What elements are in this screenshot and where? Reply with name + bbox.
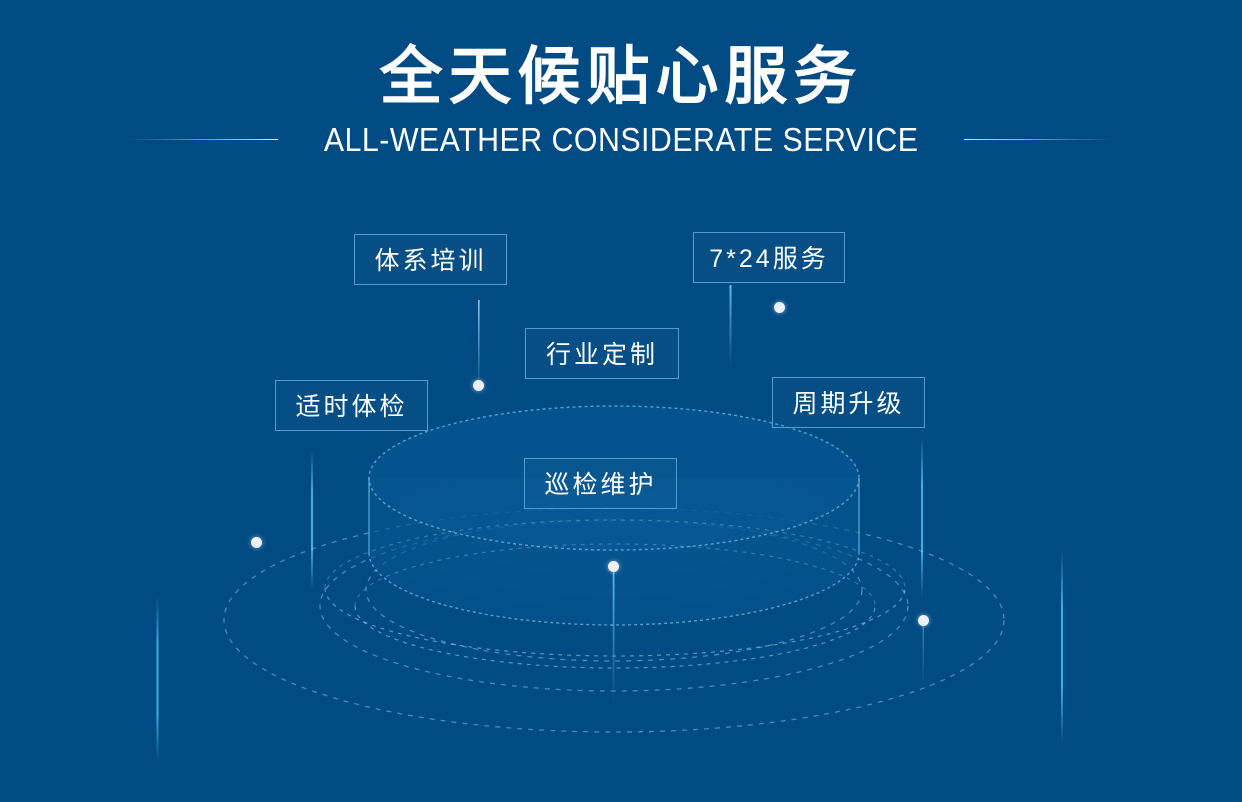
- decor-line-left: [157, 596, 159, 762]
- label-chip-724-service[interactable]: 7*24服务: [693, 232, 845, 283]
- page-subtitle: ALL-WEATHER CONSIDERATE SERVICE: [324, 123, 919, 156]
- label-chip-timely-checkup[interactable]: 适时体检: [275, 380, 428, 431]
- label-chip-timely-checkup-text: 适时体检: [295, 387, 407, 423]
- label-chip-patrol-maintenance-text: 巡检维护: [544, 465, 656, 501]
- subtitle-row: ALL-WEATHER CONSIDERATE SERVICE: [0, 123, 1242, 156]
- label-chip-periodic-upgrade[interactable]: 周期升级: [772, 377, 925, 428]
- label-chip-patrol-maintenance[interactable]: 巡检维护: [524, 458, 677, 509]
- node-dot-left: [251, 537, 262, 548]
- connector-train: [478, 300, 480, 392]
- decor-line-inner-right: [921, 437, 923, 597]
- label-chip-system-training-text: 体系培训: [374, 241, 486, 277]
- service-banner: 全天候贴心服务 ALL-WEATHER CONSIDERATE SERVICE …: [0, 0, 1242, 802]
- node-dot-center: [608, 561, 619, 572]
- node-dot-training: [473, 380, 484, 391]
- connector-center: [613, 567, 615, 703]
- connector-724: [730, 285, 732, 365]
- subtitle-rule-right: [964, 139, 1114, 140]
- connector-right-node: [923, 624, 924, 684]
- label-chip-system-training[interactable]: 体系培训: [354, 234, 507, 285]
- decor-line-right: [1061, 551, 1063, 743]
- node-dot-right: [918, 615, 929, 626]
- label-chip-industry-customization-text: 行业定制: [546, 335, 658, 371]
- label-chip-industry-customization[interactable]: 行业定制: [525, 328, 679, 379]
- label-chip-724-service-text: 7*24服务: [709, 239, 828, 275]
- page-title: 全天候贴心服务: [0, 0, 1242, 109]
- page-header: 全天候贴心服务 ALL-WEATHER CONSIDERATE SERVICE: [0, 0, 1242, 156]
- node-dot-724: [774, 302, 785, 313]
- label-chip-periodic-upgrade-text: 周期升级: [792, 384, 904, 420]
- decor-line-inner-left: [311, 450, 313, 590]
- subtitle-rule-left: [128, 139, 278, 140]
